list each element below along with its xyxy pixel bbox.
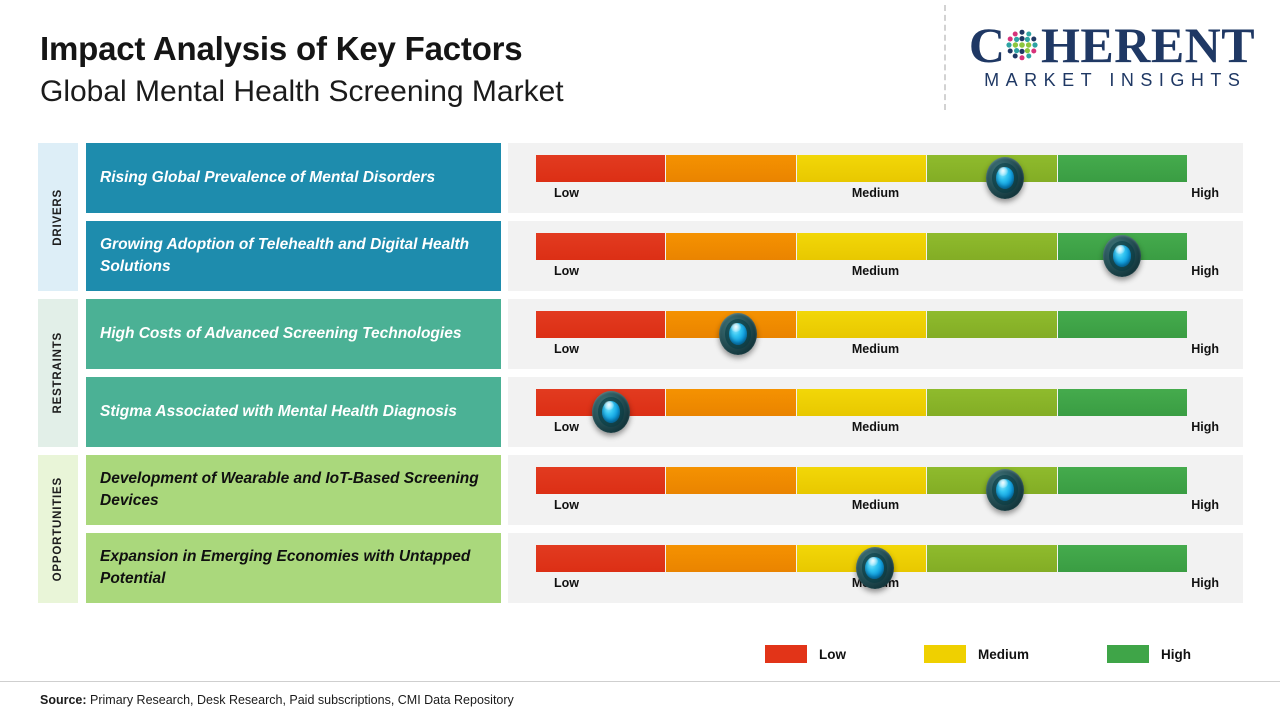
scale-label-medium: Medium (508, 342, 1243, 356)
gauge-segment-medium (797, 233, 927, 260)
scale-label-high: High (1191, 576, 1219, 590)
logo-word-herent: HERENT (1041, 20, 1255, 70)
factor-label: High Costs of Advanced Screening Technol… (100, 323, 461, 345)
gauge-segment-low-medium (666, 155, 796, 182)
legend-item-low: Low (765, 645, 846, 663)
gauge-segment-high (1058, 311, 1187, 338)
gauge-segment-low-medium (666, 467, 796, 494)
source-label: Source: (40, 693, 87, 707)
factor-box[interactable]: High Costs of Advanced Screening Technol… (86, 299, 501, 369)
impact-gauge[interactable]: Low Medium High (508, 377, 1243, 447)
scale-label-medium: Medium (508, 498, 1243, 512)
impact-gauge[interactable]: Low Medium High (508, 143, 1243, 213)
gauge-segment-medium-high (927, 545, 1057, 572)
legend: Low Medium High (765, 645, 1191, 663)
page-subtitle: Global Mental Health Screening Market (40, 73, 564, 111)
scale-label-high: High (1191, 342, 1219, 356)
legend-label-high: High (1161, 647, 1191, 662)
legend-item-high: High (1107, 645, 1191, 663)
gauge-segment-medium (797, 155, 927, 182)
gauge-marker[interactable] (986, 157, 1024, 199)
legend-label-medium: Medium (978, 647, 1029, 662)
header-dashed-divider (944, 5, 946, 110)
table-row: Expansion in Emerging Economies with Unt… (0, 533, 1280, 603)
scale-label-high: High (1191, 498, 1219, 512)
source-note: Source: Primary Research, Desk Research,… (40, 693, 514, 707)
source-text: Primary Research, Desk Research, Paid su… (87, 693, 514, 707)
gauge-segment-low-medium (666, 545, 796, 572)
gauge-segment-low (536, 467, 666, 494)
gauge-track (536, 311, 1187, 338)
legend-swatch-low (765, 645, 807, 663)
gauge-marker[interactable] (1103, 235, 1141, 277)
header: Impact Analysis of Key Factors Global Me… (0, 0, 1280, 132)
scale-label-high: High (1191, 264, 1219, 278)
gauge-segment-low-medium (666, 233, 796, 260)
gauge-segment-high (1058, 467, 1187, 494)
impact-rows: Rising Global Prevalence of Mental Disor… (0, 143, 1280, 611)
impact-gauge[interactable]: Low Medium High (508, 221, 1243, 291)
impact-gauge[interactable]: Low Medium High (508, 533, 1243, 603)
factor-box[interactable]: Rising Global Prevalence of Mental Disor… (86, 143, 501, 213)
gauge-segment-low (536, 311, 666, 338)
gauge-marker[interactable] (592, 391, 630, 433)
gauge-segment-high (1058, 389, 1187, 416)
legend-swatch-medium (924, 645, 966, 663)
globe-icon (1002, 25, 1042, 65)
factor-box[interactable]: Stigma Associated with Mental Health Dia… (86, 377, 501, 447)
factor-label: Growing Adoption of Telehealth and Digit… (100, 234, 487, 279)
table-row: Development of Wearable and IoT-Based Sc… (0, 455, 1280, 525)
gauge-segment-high (1058, 545, 1187, 572)
gauge-segment-medium-high (927, 233, 1057, 260)
coherent-market-insights-logo: C (962, 22, 1262, 91)
gauge-segment-medium (797, 389, 927, 416)
scale-label-high: High (1191, 420, 1219, 434)
gauge-marker[interactable] (719, 313, 757, 355)
logo-letter-c: C (969, 20, 1005, 70)
impact-gauge[interactable]: Low Medium High (508, 455, 1243, 525)
gauge-track (536, 467, 1187, 494)
factor-box[interactable]: Growing Adoption of Telehealth and Digit… (86, 221, 501, 291)
table-row: Growing Adoption of Telehealth and Digit… (0, 221, 1280, 291)
factor-label: Rising Global Prevalence of Mental Disor… (100, 167, 435, 189)
scale-label-medium: Medium (508, 186, 1243, 200)
legend-label-low: Low (819, 647, 846, 662)
gauge-track (536, 233, 1187, 260)
factor-label: Expansion in Emerging Economies with Unt… (100, 546, 487, 591)
scale-label-high: High (1191, 186, 1219, 200)
gauge-marker[interactable] (856, 547, 894, 589)
factor-label: Development of Wearable and IoT-Based Sc… (100, 468, 487, 513)
footer-divider (0, 681, 1280, 682)
gauge-segment-medium-high (927, 311, 1057, 338)
table-row: Rising Global Prevalence of Mental Disor… (0, 143, 1280, 213)
impact-gauge[interactable]: Low Medium High (508, 299, 1243, 369)
legend-item-medium: Medium (924, 645, 1029, 663)
logo-wordmark: C (962, 22, 1262, 68)
gauge-segment-low (536, 155, 666, 182)
page-title: Impact Analysis of Key Factors (40, 30, 564, 69)
gauge-segment-medium (797, 467, 927, 494)
table-row: High Costs of Advanced Screening Technol… (0, 299, 1280, 369)
gauge-segment-low-medium (666, 389, 796, 416)
factor-box[interactable]: Development of Wearable and IoT-Based Sc… (86, 455, 501, 525)
legend-swatch-high (1107, 645, 1149, 663)
factor-box[interactable]: Expansion in Emerging Economies with Unt… (86, 533, 501, 603)
logo-tagline: MARKET INSIGHTS (962, 70, 1262, 91)
table-row: Stigma Associated with Mental Health Dia… (0, 377, 1280, 447)
gauge-segment-low (536, 545, 666, 572)
infographic-page: Impact Analysis of Key Factors Global Me… (0, 0, 1280, 720)
title-block: Impact Analysis of Key Factors Global Me… (40, 30, 564, 110)
gauge-segment-medium-high (927, 389, 1057, 416)
factor-label: Stigma Associated with Mental Health Dia… (100, 401, 457, 423)
gauge-track (536, 389, 1187, 416)
gauge-segment-medium (797, 311, 927, 338)
gauge-track (536, 155, 1187, 182)
gauge-marker[interactable] (986, 469, 1024, 511)
gauge-segment-low (536, 233, 666, 260)
gauge-segment-high (1058, 155, 1187, 182)
